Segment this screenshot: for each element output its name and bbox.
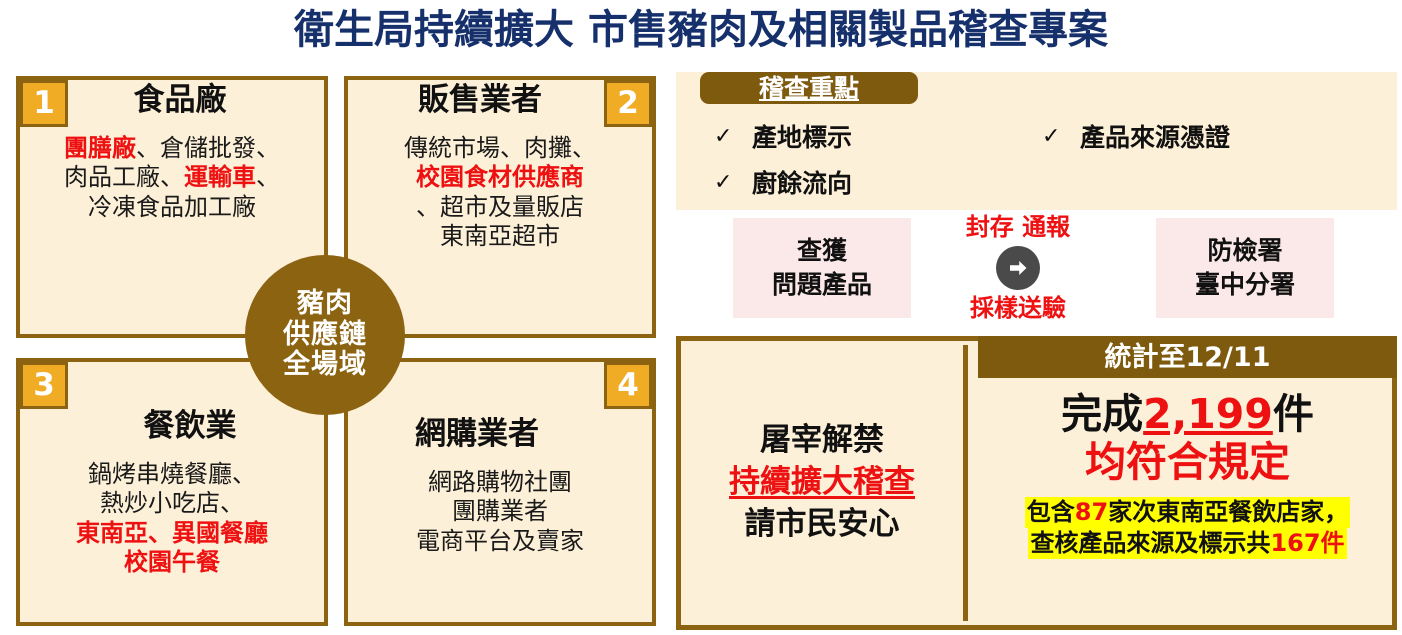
results-count-prefix: 完成	[1061, 390, 1143, 438]
results-compliance-line: 均符合規定	[1085, 438, 1290, 486]
box-1-line-2: 肉品工廠、運輸車、	[20, 163, 324, 192]
flow-arrow-top-label: 封存 通報	[966, 215, 1070, 239]
results-note: 包含87家次東南亞餐飲店家， 查核產品來源及標示共167件	[1025, 497, 1350, 559]
results-count-line: 完成2,199件	[1061, 390, 1314, 438]
note-highlight-1: 包含87家次東南亞餐飲店家，	[1025, 497, 1350, 528]
results-note-line-1: 包含87家次東南亞餐飲店家，	[1025, 497, 1350, 528]
results-left-line-3: 請市民安心	[745, 504, 900, 546]
box-1-number-badge: 1	[20, 80, 68, 127]
box-2-body: 傳統市場、肉攤、 校園食材供應商 、超市及量販店 東南亞超市	[348, 134, 652, 251]
results-count-suffix: 件	[1273, 390, 1314, 438]
results-note-line-2: 查核產品來源及標示共167件	[1025, 528, 1350, 559]
text-run: 、超市及量販店	[416, 193, 584, 221]
text-run: 傳統市場、肉攤、	[404, 134, 596, 162]
results-left-line-2: 持續擴大稽查	[729, 462, 915, 504]
box-3-line-1: 鍋烤串燒餐廳、	[20, 460, 324, 489]
results-left-line-1: 屠宰解禁	[760, 420, 884, 462]
box-2-line-4: 東南亞超市	[348, 222, 652, 251]
box-2-line-3: 、超市及量販店	[348, 193, 652, 222]
key-point-item-2: ✓ 廚餘流向	[714, 164, 852, 200]
flow-left-box: 查獲 問題產品	[733, 218, 911, 318]
text-run: 鍋烤串燒餐廳、	[88, 460, 256, 488]
box-2-line-2: 校園食材供應商	[348, 163, 652, 192]
box-3-heading: 餐飲業	[60, 410, 320, 443]
key-point-item-1: ✓ 產地標示	[714, 118, 852, 154]
text-run: 東南亞超市	[440, 222, 560, 250]
box-1-line-1: 團膳廠、倉儲批發、	[20, 134, 324, 163]
box-2-number-badge: 2	[604, 80, 652, 127]
box-4-line-3: 電商平台及賣家	[348, 527, 652, 556]
results-divider	[963, 345, 968, 621]
key-point-label: 產地標示	[752, 118, 852, 154]
text-run: 團膳廠	[64, 134, 136, 162]
results-count-number: 2,199	[1143, 390, 1273, 438]
hub-line-2: 供應鏈	[283, 320, 367, 351]
flow-arrow-bottom-label: 採樣送驗	[970, 296, 1066, 320]
key-point-label: 廚餘流向	[752, 164, 852, 200]
note-highlight-2: 查核產品來源及標示共167件	[1028, 528, 1346, 559]
box-4-heading: 網購業者	[352, 418, 602, 451]
box-1-heading: 食品廠	[40, 84, 320, 117]
flow-right-box: 防檢署 臺中分署	[1156, 218, 1334, 318]
key-points-tab: 稽查重點	[700, 72, 918, 104]
text-run: 家次東南亞餐飲店家，	[1108, 498, 1348, 526]
note-number-167: 167	[1270, 529, 1320, 557]
hub-line-3: 全場域	[283, 350, 367, 381]
text-run: 查核產品來源及標示共	[1030, 529, 1270, 557]
key-point-label: 產品來源憑證	[1080, 118, 1230, 154]
text-run: 肉品工廠、	[64, 163, 184, 191]
box-3-line-4: 校園午餐	[20, 548, 324, 577]
flow-right-line-2: 臺中分署	[1195, 268, 1295, 302]
check-icon: ✓	[714, 170, 730, 195]
results-left-message: 屠宰解禁 持續擴大稽查 請市民安心	[690, 350, 954, 616]
box-4-line-1: 網路購物社團	[348, 468, 652, 497]
box-3-body: 鍋烤串燒餐廳、 熱炒小吃店、 東南亞、異國餐廳 校園午餐	[20, 460, 324, 577]
stat-header-label: 統計至12/11	[1104, 344, 1270, 371]
key-points-tab-label: 稽查重點	[759, 76, 859, 101]
text-run: 校園食材供應商	[416, 163, 584, 191]
center-hub-circle: 豬肉 供應鏈 全場域	[245, 255, 405, 415]
box-2-heading: 販售業者	[358, 84, 602, 117]
box-1-body: 團膳廠、倉儲批發、 肉品工廠、運輸車、 冷凍食品加工廠	[20, 134, 324, 222]
flow-arrow-group: 封存 通報 採樣送驗	[938, 215, 1098, 320]
check-icon: ✓	[714, 124, 730, 149]
note-number-87: 87	[1075, 498, 1108, 526]
box-4-body: 網路購物社團 團購業者 電商平台及賣家	[348, 468, 652, 556]
box-4-line-2: 團購業者	[348, 497, 652, 526]
box-4-number-badge: 4	[604, 362, 652, 409]
check-icon: ✓	[1042, 124, 1058, 149]
box-3-number-badge: 3	[20, 362, 68, 409]
key-point-item-3: ✓ 產品來源憑證	[1042, 118, 1230, 154]
flow-left-line-2: 問題產品	[772, 268, 872, 302]
box-2-line-1: 傳統市場、肉攤、	[348, 134, 652, 163]
text-run: 校園午餐	[124, 548, 220, 576]
text-run: 東南亞、異國餐廳	[76, 519, 268, 547]
stat-header-bar: 統計至12/11	[978, 336, 1397, 378]
text-run: 網路購物社團	[428, 468, 572, 496]
arrow-right-icon	[996, 246, 1040, 290]
text-run: 、	[256, 163, 280, 191]
box-1-line-3: 冷凍食品加工廠	[20, 193, 324, 222]
text-run: 熱炒小吃店、	[100, 489, 244, 517]
box-3-line-3: 東南亞、異國餐廳	[20, 519, 324, 548]
text-run: 團購業者	[452, 497, 548, 525]
flow-right-line-1: 防檢署	[1207, 234, 1282, 268]
text-run: 包含	[1027, 498, 1075, 526]
flow-left-line-1: 查獲	[797, 234, 847, 268]
hub-line-1: 豬肉	[297, 289, 353, 320]
box-3-line-2: 熱炒小吃店、	[20, 489, 324, 518]
text-run: 電商平台及賣家	[416, 527, 584, 555]
text-run: 、倉儲批發、	[136, 134, 280, 162]
text-run: 運輸車	[184, 163, 256, 191]
text-run: 冷凍食品加工廠	[88, 193, 256, 221]
page-title: 衛生局持續擴大 市售豬肉及相關製品稽查專案	[0, 0, 1402, 54]
results-right-content: 完成2,199件 均符合規定 包含87家次東南亞餐飲店家， 查核產品來源及標示共…	[978, 382, 1397, 622]
text-run: 件	[1321, 529, 1345, 557]
